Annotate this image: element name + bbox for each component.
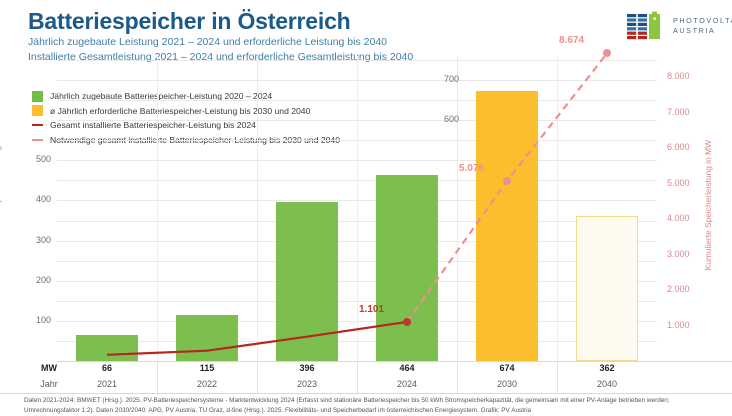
left-y-tick-500: 500: [17, 154, 51, 164]
footnote-line-1: Daten 2021-2024: BMWET (Hrsg.). 2025. PV…: [24, 396, 724, 406]
left-y-tick-300: 300: [17, 235, 51, 245]
right-y-tick-4.000: 4.000: [667, 213, 707, 223]
table-cell-mw-2040: 362: [557, 363, 657, 373]
table-separator: [257, 361, 258, 393]
right-y-tick-1.000: 1.000: [667, 320, 707, 330]
right-y-tick-7.000: 7.000: [667, 107, 707, 117]
table-cell-mw-2030: 674: [457, 363, 557, 373]
left-y-tick-200: 200: [17, 275, 51, 285]
table-cell-year-2024: 2024: [357, 379, 457, 389]
pv-austria-logo: PHOTOVOLTAIC AUSTRIA: [627, 10, 727, 43]
right-y-tick-6.000: 6.000: [667, 142, 707, 152]
table-cell-mw-2022: 115: [157, 363, 257, 373]
dashed-pink-line: [407, 53, 607, 322]
right-y-tick-3.000: 3.000: [667, 249, 707, 259]
data-point-2024: [403, 318, 411, 326]
table-separator: [457, 361, 458, 393]
table-cell-mw-2021: 66: [57, 363, 157, 373]
solid-red-line: [107, 322, 407, 355]
table-top-rule: [57, 361, 732, 362]
table-cell-mw-2024: 464: [357, 363, 457, 373]
label-5076: 5.076: [459, 163, 484, 174]
data-point-2030: [503, 177, 511, 185]
table-separator: [357, 361, 358, 393]
table-bottom-rule: [0, 393, 732, 394]
table-row-mw: MW 66115396464674362: [0, 363, 732, 379]
left-y-axis-title: Jährlich neu installierte Speicherleistu…: [0, 120, 2, 296]
left-y-tick-100: 100: [17, 315, 51, 325]
source-footnote: Daten 2021-2024: BMWET (Hrsg.). 2025. PV…: [24, 396, 724, 416]
table-cell-year-2040: 2040: [557, 379, 657, 389]
table-cell-mw-2023: 396: [257, 363, 357, 373]
logo-line-1: PHOTOVOLTAIC: [673, 16, 732, 26]
right-y-tick-8.000: 8.000: [667, 71, 707, 81]
table-separator: [157, 361, 158, 393]
table-separator: [557, 361, 558, 393]
left-y-tick-600: 600: [425, 114, 459, 124]
table-cell-year-2022: 2022: [157, 379, 257, 389]
logo-line-2: AUSTRIA: [673, 26, 732, 36]
table-cell-year-2023: 2023: [257, 379, 357, 389]
chart-plot-area: 1.1015.0768.674: [57, 56, 657, 361]
green-square-swatch-icon: [32, 91, 43, 102]
red-solid-line-swatch-icon: [32, 124, 43, 126]
table-cell-year-2021: 2021: [57, 379, 157, 389]
battery-bars-logo-icon: [627, 10, 667, 42]
right-y-tick-2.000: 2.000: [667, 284, 707, 294]
right-y-tick-5.000: 5.000: [667, 178, 707, 188]
page-title: Batteriespeicher in Österreich: [28, 8, 351, 35]
label-1101: 1.101: [359, 304, 384, 315]
pink-dashed-line-swatch-icon: [32, 139, 43, 141]
left-y-tick-400: 400: [17, 194, 51, 204]
footnote-line-2: Umrechnungsfaktor 1:2). Daten 2030/2040:…: [24, 406, 724, 416]
x-axis-value-table: MW 66115396464674362 Jahr 20212022202320…: [0, 361, 732, 393]
table-cell-year-2030: 2030: [457, 379, 557, 389]
logo-wordmark: PHOTOVOLTAIC AUSTRIA: [673, 16, 732, 37]
label-8674: 8.674: [559, 35, 584, 46]
subtitle-line-1: Jährlich zugebaute Leistung 2021 – 2024 …: [28, 36, 387, 48]
yellow-square-swatch-icon: [32, 105, 43, 116]
left-y-tick-700: 700: [425, 74, 459, 84]
line-series-group: [57, 56, 657, 361]
